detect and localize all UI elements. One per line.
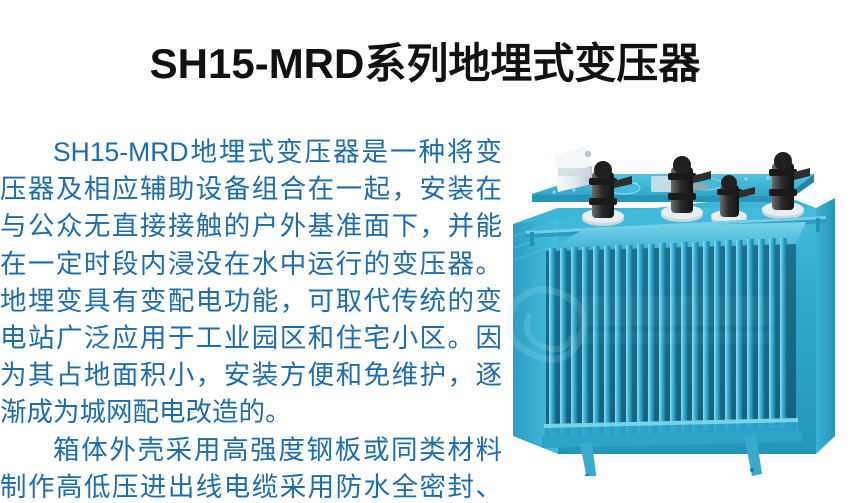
description-block: SH15-MRD地埋式变压器是一种将变压器及相应辅助设备组合在一起，安装在与公众… — [0, 134, 502, 503]
relay-box — [554, 146, 592, 192]
description-paragraph-1: SH15-MRD地埋式变压器是一种将变压器及相应辅助设备组合在一起，安装在与公众… — [0, 134, 502, 432]
product-photo — [496, 136, 850, 476]
description-paragraph-2: 箱体外壳采用高强度钢板或同类材料制作高低压进出线电缆采用防水全密封、全绝缘、全屏… — [0, 432, 502, 503]
transformer-illustration — [496, 136, 850, 476]
product-detail-page: SH15-MRD系列地埋式变压器 SH15-MRD地埋式变压器是一种将变压器及相… — [0, 0, 850, 503]
page-title: SH15-MRD系列地埋式变压器 — [0, 40, 850, 88]
